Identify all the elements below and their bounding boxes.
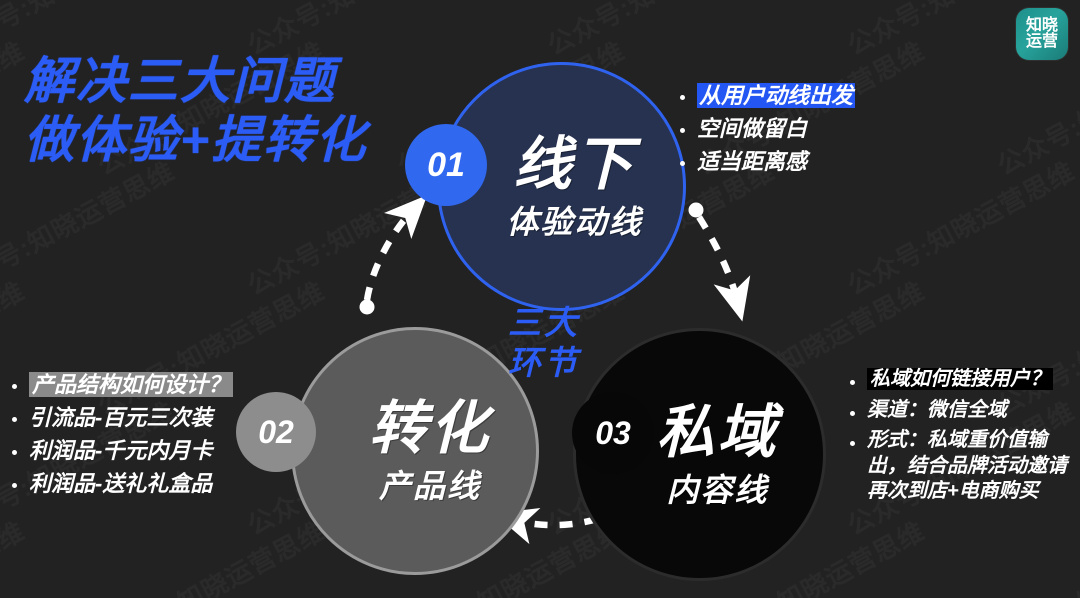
bullet-item: 私域如何链接用户？ (850, 367, 1078, 393)
node-03-number: 03 (595, 415, 631, 452)
bullet-highlight: 从用户动线出发 (697, 83, 855, 108)
title-line-2: 做体验+提转化 (24, 111, 367, 170)
logo-line-1: 知晓 (1026, 18, 1058, 34)
bullet-item: 利润品-千元内月卡 (12, 437, 233, 465)
bullet-list-01: 从用户动线出发空间做留白适当距离感 (680, 82, 855, 181)
watermark-text: 公众号:知晓运营思维 (840, 151, 1080, 302)
node-02-subtitle: 产品线 (379, 470, 481, 502)
bullet-highlight: 私域如何链接用户？ (867, 368, 1053, 390)
watermark-text: 公众号:知晓运营思维 (90, 511, 330, 598)
bullet-item: 适当距离感 (680, 148, 855, 176)
bullet-dot-icon (12, 417, 17, 422)
node-02-number: 02 (258, 414, 294, 451)
bullet-text: 适当距离感 (697, 148, 807, 176)
bullet-dot-icon (680, 128, 685, 133)
arrow-01-to-03 (689, 203, 738, 301)
bullet-text: 空间做留白 (697, 115, 807, 143)
slide-title: 解决三大问题 做体验+提转化 (24, 52, 367, 170)
center-label-line-2: 环节 (508, 343, 580, 383)
bullet-dot-icon (680, 161, 685, 166)
bullet-list-03: 私域如何链接用户？渠道：微信全域形式：私域重价值输出，结合品牌活动邀请再次到店+… (850, 367, 1078, 510)
bullet-item: 从用户动线出发 (680, 82, 855, 110)
bullet-text: 从用户动线出发 (697, 82, 855, 110)
bullet-dot-icon (850, 411, 855, 416)
title-line-1: 解决三大问题 (24, 52, 367, 111)
bullet-text: 利润品-送礼礼盒品 (29, 470, 212, 498)
node-03-subtitle: 内容线 (666, 474, 768, 506)
bullet-dot-icon (12, 384, 17, 389)
node-03-title: 私域 (656, 404, 778, 462)
node-02-badge[interactable]: 02 (236, 392, 316, 472)
bullet-dot-icon (850, 380, 855, 385)
watermark-text: 公众号:知晓运营思维 (0, 511, 30, 598)
node-01-number: 01 (427, 146, 465, 185)
slide-canvas: 公众号:知晓运营思维公众号:知晓运营思维公众号:知晓运营思维公众号:知晓运营思维… (0, 0, 1080, 598)
watermark-text: 公众号:知晓运营思维 (540, 0, 780, 63)
node-circle-02[interactable]: 转化 产品线 (291, 327, 539, 575)
bullet-text: 形式：私域重价值输出，结合品牌活动邀请再次到店+电商购买 (867, 428, 1078, 505)
node-03-badge[interactable]: 03 (572, 392, 654, 474)
bullet-text: 产品结构如何设计？ (29, 371, 233, 399)
bullet-item: 空间做留白 (680, 115, 855, 143)
bullet-dot-icon (12, 450, 17, 455)
bullet-item: 形式：私域重价值输出，结合品牌活动邀请再次到店+电商购买 (850, 428, 1078, 505)
bullet-text: 私域如何链接用户？ (867, 367, 1053, 393)
bullet-list-02: 产品结构如何设计？引流品-百元三次装利润品-千元内月卡利润品-送礼礼盒品 (12, 371, 233, 504)
node-01-title: 线下 (513, 136, 635, 194)
bullet-text: 利润品-千元内月卡 (29, 437, 212, 465)
logo-line-2: 运营 (1026, 34, 1058, 50)
bullet-text: 渠道：微信全域 (867, 398, 1007, 424)
bullet-dot-icon (12, 483, 17, 488)
arrow-02-to-01 (360, 211, 413, 315)
bullet-item: 引流品-百元三次装 (12, 404, 233, 432)
bullet-dot-icon (680, 95, 685, 100)
bullet-item: 产品结构如何设计？ (12, 371, 233, 399)
watermark-text: 公众号:知晓运营思维 (0, 151, 180, 302)
center-label: 三大 环节 (508, 303, 580, 384)
bullet-highlight: 产品结构如何设计？ (29, 372, 233, 397)
bullet-text: 引流品-百元三次装 (29, 404, 212, 432)
bullet-item: 利润品-送礼礼盒品 (12, 470, 233, 498)
watermark-text: 公众号:知晓运营思维 (990, 511, 1080, 598)
brand-logo: 知晓 运营 (1016, 8, 1068, 60)
center-label-line-1: 三大 (508, 303, 580, 343)
node-02-title: 转化 (369, 400, 491, 458)
node-02-text: 转化 产品线 (339, 400, 491, 502)
bullet-dot-icon (850, 441, 855, 446)
bullet-item: 渠道：微信全域 (850, 398, 1078, 424)
node-01-text: 线下 体验动线 (480, 136, 642, 238)
node-01-badge[interactable]: 01 (405, 124, 487, 206)
node-01-subtitle: 体验动线 (506, 206, 642, 238)
